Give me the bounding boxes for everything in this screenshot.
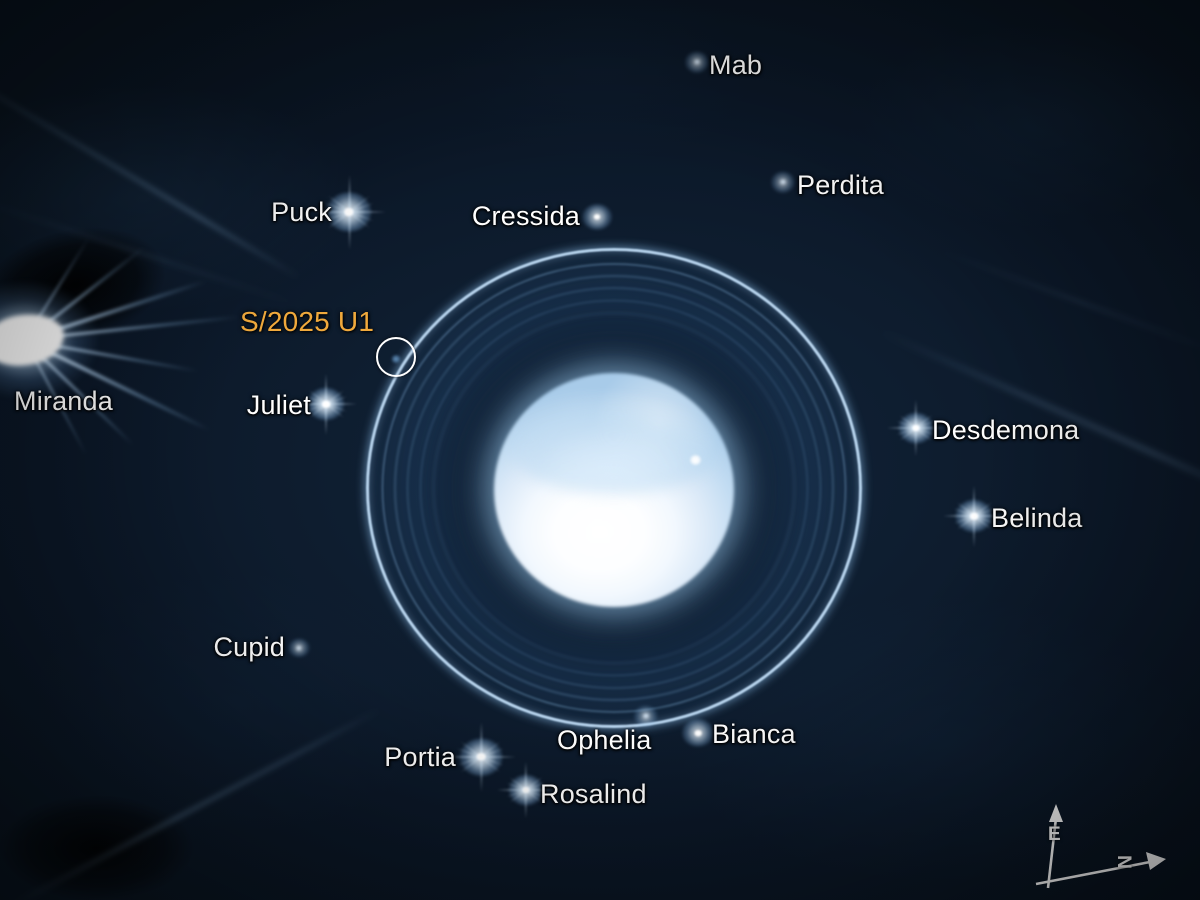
- moon-core: [912, 425, 919, 431]
- moon-core: [322, 401, 330, 408]
- moon-diffraction-spike-5: [896, 420, 936, 436]
- moon-diffraction-spike-3: [509, 776, 543, 803]
- moon-diffraction-spike-0: [446, 756, 516, 758]
- uranus-jwst-image: MabPerditaPuckCressidaMirandaJulietDesde…: [0, 0, 1200, 900]
- moon-core: [522, 787, 529, 793]
- moon-core: [477, 753, 486, 760]
- moon-label-puck[interactable]: Puck: [271, 199, 332, 226]
- moon-label-belinda[interactable]: Belinda: [991, 505, 1082, 532]
- moon-label-rosalind[interactable]: Rosalind: [540, 781, 647, 808]
- moon-label-juliet[interactable]: Juliet: [247, 392, 311, 419]
- compass-east-label: E: [1048, 824, 1061, 846]
- moon-diffraction-spike-1: [325, 373, 327, 435]
- moon-diffraction-spike-5: [457, 747, 506, 766]
- moon-halo: [289, 639, 310, 657]
- compass-north-arrowhead: [1146, 852, 1166, 870]
- moon-diffraction-spike-5: [305, 396, 348, 413]
- moon-core: [644, 714, 649, 718]
- moon-label-desdemona[interactable]: Desdemona: [932, 417, 1079, 444]
- moon-label-perdita[interactable]: Perdita: [797, 172, 884, 199]
- moon-diffraction-spike-3: [956, 502, 992, 531]
- moon-core: [297, 646, 301, 650]
- moon-label-mab[interactable]: Mab: [709, 52, 762, 79]
- moon-halo: [634, 706, 657, 727]
- moon-diffraction-spike-3: [460, 741, 501, 774]
- moon-layer: MabPerditaPuckCressidaMirandaJulietDesde…: [0, 0, 1200, 900]
- moon-diffraction-spike-2: [327, 195, 371, 230]
- compass-east-arrowhead: [1049, 804, 1063, 822]
- moon-diffraction-spike-5: [953, 508, 996, 525]
- compass-north-label: N: [1112, 855, 1134, 869]
- moon-diffraction-spike-1: [973, 485, 975, 547]
- moon-halo: [583, 204, 612, 229]
- new-moon-dot: [392, 355, 401, 363]
- moon-halo: [460, 739, 502, 776]
- moon-diffraction-spike-2: [308, 390, 344, 419]
- moon-diffraction-spike-2: [460, 741, 501, 774]
- moon-label-ophelia[interactable]: Ophelia: [557, 727, 651, 754]
- moon-core: [970, 513, 978, 520]
- compass-lines: [1020, 800, 1190, 900]
- moon-core: [594, 214, 600, 219]
- moon-label-bianca[interactable]: Bianca: [712, 721, 796, 748]
- moon-label-portia[interactable]: Portia: [384, 744, 456, 771]
- moon-halo: [327, 193, 371, 232]
- moon-halo: [509, 775, 543, 805]
- moon-halo: [771, 172, 794, 193]
- moon-core: [344, 208, 353, 216]
- moon-diffraction-spike-1: [480, 722, 482, 792]
- moon-diffraction-spike-3: [308, 390, 344, 419]
- compass-rose: E N: [1020, 800, 1190, 900]
- moon-diffraction-spike-4: [305, 396, 348, 413]
- moon-diffraction-spike-2: [899, 414, 933, 441]
- moon-label-miranda[interactable]: Miranda: [14, 388, 113, 415]
- moon-diffraction-spike-2: [509, 776, 543, 803]
- moon-diffraction-spike-1: [915, 399, 917, 456]
- new-moon-label[interactable]: S/2025 U1: [240, 308, 374, 336]
- moon-core: [695, 60, 700, 64]
- moon-diffraction-spike-4: [896, 420, 936, 436]
- moon-label-cupid[interactable]: Cupid: [213, 634, 285, 661]
- moon-diffraction-spike-4: [953, 508, 996, 525]
- moon-diffraction-spike-3: [899, 414, 933, 441]
- moon-core: [695, 730, 702, 736]
- moon-diffraction-spike-3: [327, 195, 371, 230]
- moon-halo: [682, 719, 713, 746]
- moon-diffraction-spike-1: [348, 175, 350, 250]
- moon-halo: [685, 52, 708, 73]
- moon-diffraction-spike-2: [956, 502, 992, 531]
- moon-halo: [899, 413, 933, 443]
- moon-diffraction-spike-1: [525, 761, 527, 818]
- moon-halo: [956, 500, 992, 532]
- moon-label-cressida[interactable]: Cressida: [472, 203, 580, 230]
- moon-diffraction-spike-4: [457, 747, 506, 766]
- moon-halo: [308, 388, 344, 420]
- moon-core: [781, 180, 786, 184]
